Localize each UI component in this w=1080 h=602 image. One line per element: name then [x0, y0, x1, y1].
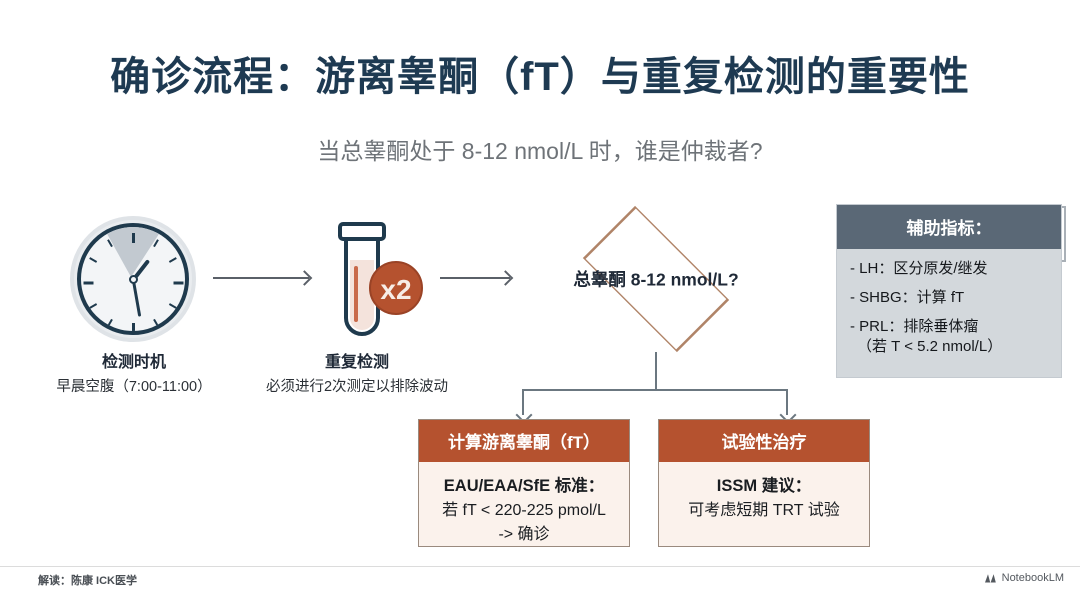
clock-tick: [89, 303, 97, 309]
aux-panel-header: 辅助指标：: [837, 205, 1061, 249]
outcome-line: 若 fT < 220-225 pmol/L: [427, 499, 621, 523]
connector-crossbar: [522, 389, 788, 391]
aux-item-sublabel: （若 T < 5.2 nmol/L）: [850, 338, 1049, 357]
aux-indicators-panel: 辅助指标： - LH：区分原发/继发 - SHBG：计算 fT - PRL：排除…: [836, 204, 1062, 378]
clock-tick: [132, 233, 135, 243]
page-subtitle: 当总睾酮处于 8-12 nmol/L 时，谁是仲裁者?: [0, 132, 1080, 166]
outcome-header: 计算游离睾酮（fT）: [419, 420, 629, 462]
outcome-box-trial-therapy: 试验性治疗 ISSM 建议： 可考虑短期 TRT 试验: [658, 419, 870, 547]
aux-item-label: - SHBG：计算 fT: [850, 289, 964, 306]
aux-item-label: - PRL：排除垂体瘤: [850, 318, 978, 335]
footer-credit: 解读：陈康 ICK医学: [38, 572, 137, 588]
aux-item-label: - LH：区分原发/继发: [850, 260, 988, 277]
clock-tick: [132, 323, 135, 333]
outcome-line: 可考虑短期 TRT 试验: [667, 499, 861, 523]
clock-tick: [169, 303, 177, 309]
svg-text:x2: x2: [380, 274, 411, 305]
clock-icon: [70, 216, 196, 342]
outcome-box-free-testosterone: 计算游离睾酮（fT） EAU/EAA/SfE 标准： 若 fT < 220-22…: [418, 419, 630, 547]
clock-tick: [107, 319, 113, 327]
decision-node: 总睾酮 8-12 nmol/L?: [522, 205, 790, 353]
test-tube-svg: x2: [323, 218, 433, 342]
step-caption-timing: 检测时机 早晨空腹（7:00-11:00）: [18, 348, 250, 396]
step-title: 检测时机: [18, 348, 250, 372]
aux-panel-body: - LH：区分原发/继发 - SHBG：计算 fT - PRL：排除垂体瘤 （若…: [837, 249, 1061, 357]
clock-minute-hand: [131, 279, 141, 317]
notebooklm-logo-icon: [984, 573, 997, 584]
outcome-line: -> 确诊: [427, 523, 621, 547]
step-desc: 必须进行2次测定以排除波动: [232, 375, 482, 396]
clock-face: [77, 223, 189, 335]
clock-tick: [89, 257, 97, 263]
step-desc: 早晨空腹（7:00-11:00）: [18, 375, 250, 396]
footer-divider: [0, 566, 1080, 567]
aux-item: - PRL：排除垂体瘤 （若 T < 5.2 nmol/L）: [850, 318, 1049, 358]
decision-label: 总睾酮 8-12 nmol/L?: [522, 267, 790, 292]
clock-tick: [173, 282, 183, 285]
clock-center-pin: [129, 275, 138, 284]
outcome-body: ISSM 建议： 可考虑短期 TRT 试验: [659, 462, 869, 537]
aux-item: - SHBG：计算 fT: [850, 289, 1049, 308]
clock-tick: [83, 282, 93, 285]
footer-brand-label: NotebookLM: [1002, 572, 1064, 584]
step-title: 重复检测: [232, 348, 482, 372]
clock-morning-sector: [101, 223, 160, 277]
clock-tick: [169, 257, 177, 263]
step-caption-repeat: 重复检测 必须进行2次测定以排除波动: [232, 348, 482, 396]
connector-stem: [655, 352, 657, 390]
clock-tick: [153, 319, 159, 327]
aux-item: - LH：区分原发/继发: [850, 260, 1049, 279]
arrow-clock-to-tube: [213, 277, 309, 279]
page-title: 确诊流程：游离睾酮（fT）与重复检测的重要性: [0, 44, 1080, 102]
footer-brand: NotebookLM: [984, 572, 1064, 584]
outcome-line: EAU/EAA/SfE 标准：: [427, 474, 621, 499]
test-tube-icon: x2: [323, 218, 433, 342]
outcome-line: ISSM 建议：: [667, 474, 861, 499]
outcome-body: EAU/EAA/SfE 标准： 若 fT < 220-225 pmol/L ->…: [419, 462, 629, 561]
arrow-tube-to-decision: [440, 277, 510, 279]
outcome-header: 试验性治疗: [659, 420, 869, 462]
